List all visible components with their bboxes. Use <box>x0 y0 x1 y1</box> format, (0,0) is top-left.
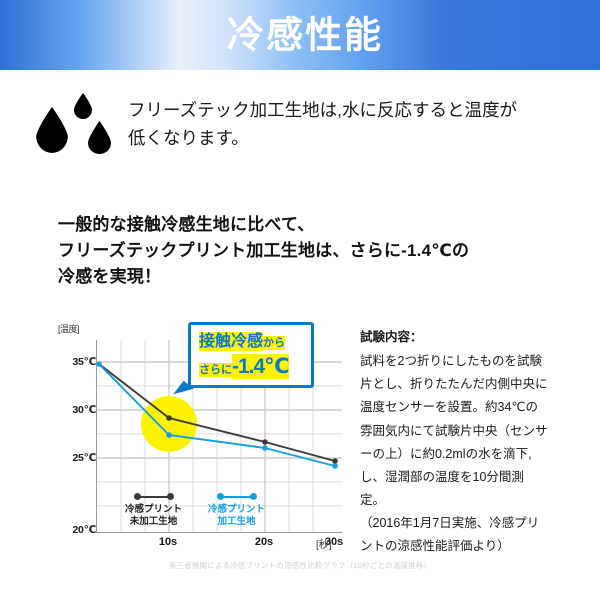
y-tick-35: 35℃ <box>73 356 97 368</box>
y-tick-20: 20℃ <box>73 524 97 536</box>
water-drop-small-icon <box>74 93 92 119</box>
test-description-title: 試験内容： <box>360 326 588 349</box>
page-title: 冷感性能 <box>0 17 600 54</box>
test-note-line: 片とし、折りたたんだ内側中央に <box>360 373 588 396</box>
water-drop-large-icon <box>36 107 68 153</box>
callout-line-1: 接触冷感から <box>199 334 305 350</box>
legend-marker-treated-icon <box>209 492 265 502</box>
legend-label-treated: 冷感プリント加工生地 <box>208 504 265 529</box>
headline-line-2: フリーズテックプリント加工生地は、さらに-1.4℃の <box>58 238 469 264</box>
highlight-circle <box>141 396 197 452</box>
legend-marker-untreated-icon <box>126 492 182 502</box>
test-note-line: ントの涼感性能評価より） <box>360 535 588 558</box>
callout-line1-suffix: から <box>263 336 285 350</box>
intro-line-2: 低くなります。 <box>128 124 517 152</box>
callout-line2-value: -1.4℃ <box>232 354 289 379</box>
test-description: 試験内容： 試料を2つ折りにしたものを試験 片とし、折りたたんだ内側中央に 温度… <box>360 326 588 558</box>
page-header: 冷感性能 <box>0 0 600 70</box>
test-description-body: 試料を2つ折りにしたものを試験 片とし、折りたたんだ内側中央に 温度センサーを設… <box>360 350 588 558</box>
x-axis-unit-label: [秒] <box>316 536 332 551</box>
legend-label-untreated: 冷感プリント未加工生地 <box>125 504 182 529</box>
test-note-line: 雰囲気内にて試験片中央（センサ <box>360 420 588 443</box>
legend-item-treated: 冷感プリント加工生地 <box>208 492 265 529</box>
cooling-performance-chart: [温度] 35℃ 30℃ 25℃ 20℃ <box>48 322 348 557</box>
x-tick-10s: 10s <box>159 536 177 548</box>
water-drops-icon <box>34 92 124 172</box>
test-note-line: 試料を2つ折りにしたものを試験 <box>360 350 588 373</box>
y-tick-30: 30℃ <box>73 404 97 416</box>
legend-item-untreated: 冷感プリント未加工生地 <box>125 492 182 529</box>
chart-legend: 冷感プリント未加工生地 冷感プリント加工生地 <box>125 492 265 529</box>
y-axis-unit-label: [温度] <box>58 322 79 335</box>
test-note-line: ーの上）に約0.2mlの水を滴下, <box>360 443 588 466</box>
water-drop-medium-icon <box>88 121 111 154</box>
test-note-line: し、湿潤部の温度を10分間測 <box>360 466 588 489</box>
footer-caption: 第三者機関による冷感プリントの涼感性比較グラフ（10秒ごとの温度推移） <box>0 560 600 571</box>
y-tick-25: 25℃ <box>73 452 97 464</box>
callout-bubble: 接触冷感から さらに-1.4℃ <box>188 322 314 388</box>
x-tick-20s: 20s <box>255 536 273 548</box>
headline-line-3: 冷感を実現！ <box>58 264 469 290</box>
callout-line2-prefix: さらに <box>199 363 232 377</box>
intro-line-1: フリーズテック加工生地は,水に反応すると温度が <box>128 96 517 124</box>
test-note-line: 定。 <box>360 489 588 512</box>
intro-text: フリーズテック加工生地は,水に反応すると温度が 低くなります。 <box>128 92 517 153</box>
callout-line1-main: 接触冷感 <box>199 332 263 351</box>
intro-block: フリーズテック加工生地は,水に反応すると温度が 低くなります。 <box>0 92 600 184</box>
test-note-line: （2016年1月7日実施、冷感プリ <box>360 512 588 535</box>
callout-line-2: さらに-1.4℃ <box>199 356 305 377</box>
test-note-line: 温度センサーを設置。約34℃の <box>360 396 588 419</box>
headline-block: 一般的な接触冷感生地に比べて、 フリーズテックプリント加工生地は、さらに-1.4… <box>58 212 469 289</box>
headline-line-1: 一般的な接触冷感生地に比べて、 <box>58 212 469 238</box>
